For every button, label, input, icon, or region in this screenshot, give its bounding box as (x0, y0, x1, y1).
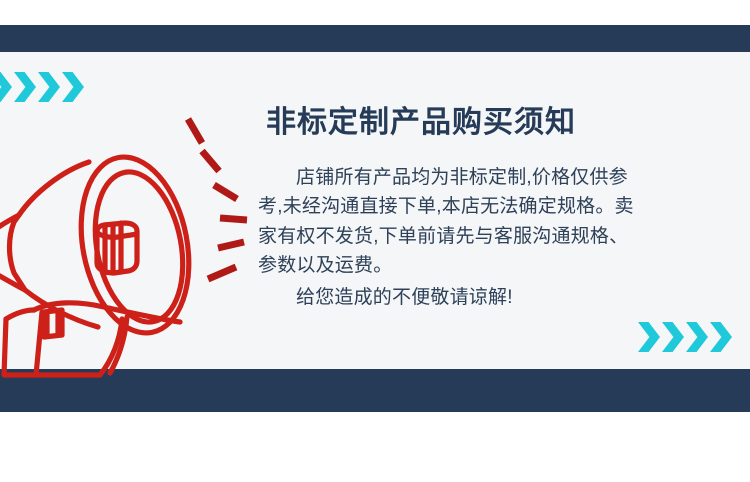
sound-lines (188, 119, 247, 279)
chevron-right-icon (38, 72, 60, 102)
top-navy-bar (0, 25, 750, 52)
chevron-right-icon (710, 322, 732, 352)
chevron-group-top-left (0, 72, 86, 102)
chevron-group-bottom-right (638, 322, 734, 352)
chevron-right-icon (662, 322, 684, 352)
chevron-right-icon (638, 322, 660, 352)
megaphone-icon (0, 105, 262, 380)
page-title: 非标定制产品购买须知 (266, 106, 638, 139)
chevron-right-icon (14, 72, 36, 102)
chevron-right-icon (686, 322, 708, 352)
notice-paragraph-1: 店铺所有产品均为非标定制,价格仅供参考,未经沟通直接下单,本店无法确定规格。卖家… (258, 163, 638, 281)
promo-banner: 非标定制产品购买须知 店铺所有产品均为非标定制,价格仅供参考,未经沟通直接下单,… (0, 0, 750, 482)
chevron-right-icon (0, 72, 12, 102)
text-block: 非标定制产品购买须知 店铺所有产品均为非标定制,价格仅供参考,未经沟通直接下单,… (258, 106, 638, 312)
chevron-right-icon (62, 72, 84, 102)
notice-paragraph-2: 给您造成的不便敬请谅解! (258, 283, 638, 312)
